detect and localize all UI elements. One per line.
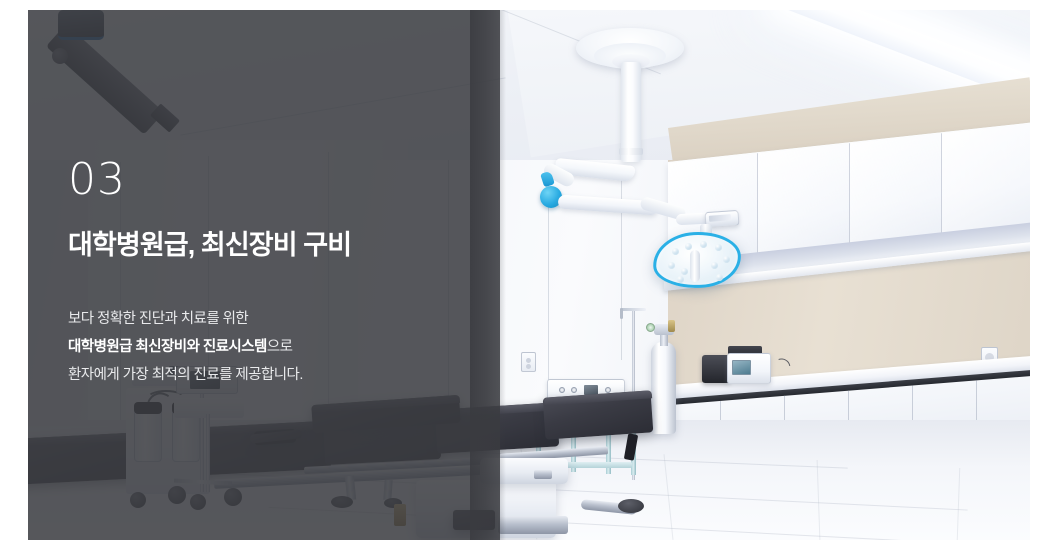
surgical-light-column xyxy=(621,62,641,162)
body-line-2: 대학병원급 최신장비와 진료시스템으로 xyxy=(68,333,468,361)
esu-dial[interactable] xyxy=(559,387,565,393)
monitor-screen xyxy=(732,360,751,375)
surgical-light-led xyxy=(685,243,692,250)
slide-number: 03 xyxy=(68,158,468,203)
surgical-light-led xyxy=(700,241,707,248)
cabinet-door[interactable] xyxy=(942,123,1030,238)
surgical-light-led xyxy=(681,268,688,275)
cylinder-valve-knob[interactable] xyxy=(668,320,675,332)
esu-dial[interactable] xyxy=(571,387,577,393)
cylinder-pressure-gauge xyxy=(646,323,655,332)
base-fitting xyxy=(534,470,552,479)
surgical-light-led xyxy=(711,262,718,269)
patient-monitor-black-module xyxy=(702,355,730,383)
slide-body-copy: 보다 정확한 진단과 치료를 위한 대학병원급 최신장비와 진료시스템으로 환자… xyxy=(68,305,468,390)
surgical-light-led xyxy=(672,248,679,255)
table-base-plate xyxy=(498,516,568,534)
cabinet-door[interactable] xyxy=(758,143,850,258)
surgical-light-led xyxy=(677,276,684,283)
iv-pole-hanger xyxy=(620,308,646,311)
iv-pole-hook xyxy=(620,308,623,319)
surgical-light-led xyxy=(716,274,723,281)
outlet-socket-hole xyxy=(526,358,531,363)
surgical-light-led xyxy=(668,262,675,269)
cabinet-door[interactable] xyxy=(850,133,942,248)
body-line-2-tail: 으로 xyxy=(267,339,293,355)
overlay-gradient-fade xyxy=(470,10,506,540)
body-line-2-bold: 대학병원급 최신장비와 진료시스템 xyxy=(68,339,267,355)
body-line-3: 환자에게 가장 최적의 진료를 제공합니다. xyxy=(68,361,468,389)
surgical-light-led xyxy=(715,244,722,251)
body-line-1: 보다 정확한 진단과 치료를 위한 xyxy=(68,305,468,333)
table-control-handle[interactable] xyxy=(618,499,644,513)
slide-banner: 03 대학병원급, 최신장비 구비 보다 정확한 진단과 치료를 위한 대학병원… xyxy=(0,0,1060,550)
surgical-light-column-joint xyxy=(619,148,643,155)
slide-text-block: 03 대학병원급, 최신장비 구비 보다 정확한 진단과 치료를 위한 대학병원… xyxy=(68,158,468,389)
oxygen-cylinder xyxy=(651,342,676,434)
surgical-light-led xyxy=(723,256,730,263)
slide-headline: 대학병원급, 최신장비 구비 xyxy=(68,229,468,263)
surgical-light-sterile-handle[interactable] xyxy=(690,250,700,282)
